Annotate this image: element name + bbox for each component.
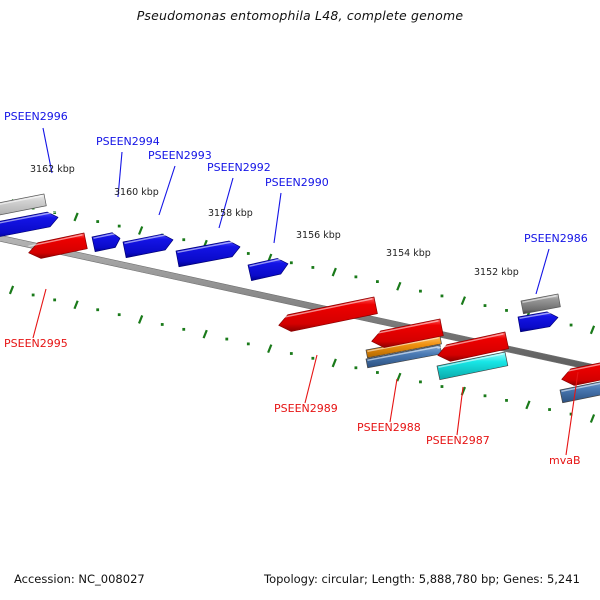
ruler-tick-label: 3156 kbp <box>296 230 341 241</box>
leader-line-PSEEN2988 <box>390 379 397 422</box>
leader-line-PSEEN2990 <box>274 193 281 243</box>
feature-tick <box>139 227 142 235</box>
feature-tick <box>462 297 465 305</box>
feature-tick <box>505 309 508 312</box>
ruler-tick-label: 3160 kbp <box>114 187 159 198</box>
feature-tick <box>74 301 77 309</box>
feature-tick <box>397 282 400 290</box>
ruler-tick-label: 3152 kbp <box>474 267 519 278</box>
feature-tick <box>311 266 314 269</box>
feature-tick <box>591 415 594 423</box>
gene-label-PSEEN2993[interactable]: PSEEN2993 <box>148 149 212 162</box>
feature-tick <box>118 225 121 228</box>
leader-line-PSEEN2992 <box>219 178 233 228</box>
feature-tick <box>570 324 573 327</box>
gene-label-PSEEN2992[interactable]: PSEEN2992 <box>207 161 271 174</box>
feature-tick <box>247 342 250 345</box>
leader-line-PSEEN2987 <box>457 387 463 435</box>
feature-tick <box>376 371 379 374</box>
gene-label-mvaB[interactable]: mvaB <box>549 454 581 467</box>
genome-summary-text: Topology: circular; Length: 5,888,780 bp… <box>264 572 580 586</box>
feature-tick <box>96 220 99 223</box>
feature-tick <box>441 385 444 388</box>
gene-label-PSEEN2986[interactable]: PSEEN2986 <box>524 232 588 245</box>
genome-map-viewer[interactable]: Pseudomonas entomophila L48, complete ge… <box>0 0 600 600</box>
feature-tick <box>290 352 293 355</box>
feature-tick <box>419 290 422 293</box>
feature-tick <box>484 304 487 307</box>
gene-label-PSEEN2988[interactable]: PSEEN2988 <box>357 421 421 434</box>
feature-tick <box>333 268 336 276</box>
feature-tick <box>419 380 422 383</box>
feature-tick <box>548 408 551 411</box>
feature-tick <box>247 252 250 255</box>
feature-tick <box>204 330 207 338</box>
feature-tick <box>118 313 121 316</box>
feature-tick <box>311 357 314 360</box>
feature-tick <box>225 338 228 341</box>
gene-PSEEN2992[interactable] <box>176 241 240 267</box>
feature-tick <box>333 359 336 367</box>
feature-tick <box>182 328 185 331</box>
gene-label-PSEEN2987[interactable]: PSEEN2987 <box>426 434 490 447</box>
accession-text: Accession: NC_008027 <box>14 572 145 586</box>
feature-tick <box>290 261 293 264</box>
misc-feature-right[interactable] <box>521 294 560 314</box>
leader-line-PSEEN2989 <box>305 355 317 403</box>
feature-tick <box>397 373 400 381</box>
ruler-tick-label: 3158 kbp <box>208 208 253 219</box>
feature-tick <box>505 399 508 402</box>
feature-tick <box>354 366 357 369</box>
feature-tick <box>441 295 444 298</box>
feature-tick <box>74 213 77 221</box>
gene-label-PSEEN2990[interactable]: PSEEN2990 <box>265 176 329 189</box>
gene-PSEEN2993[interactable] <box>123 234 173 258</box>
gene-label-PSEEN2995[interactable]: PSEEN2995 <box>4 337 68 350</box>
feature-tick <box>376 280 379 283</box>
feature-tick <box>526 401 529 409</box>
feature-tick <box>53 299 56 302</box>
genome-map-canvas[interactable]: 3162 kbp3160 kbp3158 kbp3156 kbp3154 kbp… <box>0 0 600 600</box>
leader-line-PSEEN2986 <box>536 249 549 294</box>
gene-label-PSEEN2989[interactable]: PSEEN2989 <box>274 402 338 415</box>
feature-tick <box>96 308 99 311</box>
genome-backbone[interactable] <box>0 233 600 375</box>
gene-label-PSEEN2996[interactable]: PSEEN2996 <box>4 110 68 123</box>
ruler-tick-label: 3162 kbp <box>30 164 75 175</box>
feature-tick <box>484 394 487 397</box>
feature-tick <box>10 286 13 294</box>
feature-tick <box>139 315 142 323</box>
feature-tick <box>32 294 35 297</box>
feature-tick <box>591 326 594 334</box>
feature-tick <box>268 345 271 353</box>
gene-label-layer[interactable]: PSEEN2996PSEEN2994PSEEN2993PSEEN2992PSEE… <box>4 110 588 467</box>
feature-tick <box>161 323 164 326</box>
leader-line-PSEEN2993 <box>159 166 175 215</box>
leader-line-PSEEN2995 <box>33 289 46 338</box>
feature-tick <box>354 275 357 278</box>
gene-label-PSEEN2994[interactable]: PSEEN2994 <box>96 135 160 148</box>
gene-PSEEN2996[interactable] <box>0 212 58 239</box>
feature-tick <box>182 238 185 241</box>
ruler-tick-label: 3154 kbp <box>386 248 431 259</box>
